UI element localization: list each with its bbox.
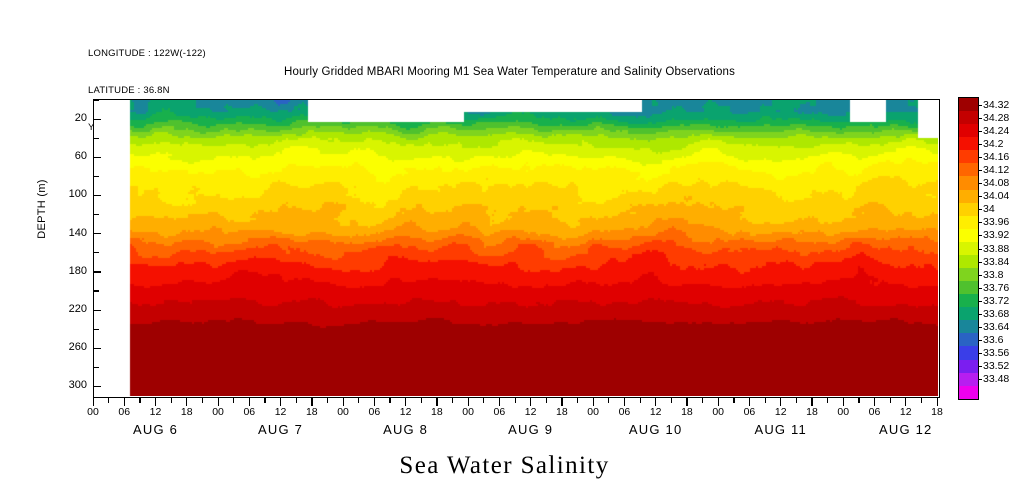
depth-tick: [94, 214, 99, 215]
depth-tick-label: 180: [69, 265, 87, 277]
time-tick: [93, 398, 94, 406]
depth-tick: [94, 100, 99, 101]
colorbar-label: 33.88: [983, 243, 1009, 255]
salinity-colorbar-labels: 34.3234.2834.2434.234.1634.1234.0834.043…: [981, 97, 1009, 400]
time-tick-label: 00: [337, 406, 349, 418]
time-tick-label: 12: [150, 406, 162, 418]
time-tick-label: 00: [212, 406, 224, 418]
time-tick-label: 06: [118, 406, 130, 418]
time-tick: [421, 398, 422, 403]
depth-tick-label: 60: [75, 150, 87, 162]
colorbar-label: 33.8: [983, 269, 1003, 281]
date-label: AUG 12: [879, 422, 932, 437]
time-tick: [468, 398, 469, 406]
colorbar-band: [959, 163, 978, 176]
time-tick: [937, 398, 938, 406]
date-label: AUG 7: [258, 422, 303, 437]
plot-caption: Sea Water Salinity: [0, 452, 1009, 480]
depth-tick-label: 220: [69, 303, 87, 315]
time-tick: [671, 398, 672, 403]
colorbar-band: [959, 268, 978, 281]
chart-title: Hourly Gridded MBARI Mooring M1 Sea Wate…: [0, 66, 1009, 78]
date-label: AUG 8: [383, 422, 428, 437]
time-tick: [546, 398, 547, 403]
date-label: AUG 9: [508, 422, 553, 437]
time-tick: [233, 398, 234, 403]
time-tick-label: 12: [650, 406, 662, 418]
time-tick: [561, 398, 562, 406]
depth-tick: [94, 367, 99, 368]
colorbar-tick: [979, 235, 982, 236]
time-tick-label: 12: [275, 406, 287, 418]
colorbar-label: 34.24: [983, 125, 1009, 137]
colorbar-band: [959, 111, 978, 124]
colorbar-band: [959, 203, 978, 216]
depth-tick: [94, 271, 101, 272]
colorbar-band: [959, 320, 978, 333]
time-tick-label: 00: [587, 406, 599, 418]
time-tick: [343, 398, 344, 406]
depth-tick: [94, 233, 101, 234]
time-tick-label: 18: [431, 406, 443, 418]
colorbar-band: [959, 333, 978, 346]
colorbar-tick: [979, 196, 982, 197]
date-label: AUG 11: [754, 422, 806, 437]
time-tick-label: 12: [775, 406, 787, 418]
time-tick-label: 00: [462, 406, 474, 418]
depth-tick: [94, 176, 99, 177]
time-tick: [640, 398, 641, 403]
time-tick-label: 06: [494, 406, 506, 418]
colorbar-band: [959, 373, 978, 386]
colorbar-label: 34.16: [983, 151, 1009, 163]
colorbar-band: [959, 307, 978, 320]
time-tick-label: 06: [869, 406, 881, 418]
colorbar-band: [959, 255, 978, 268]
time-tick: [530, 398, 531, 406]
colorbar-band: [959, 242, 978, 255]
colorbar-label: 33.92: [983, 229, 1009, 241]
time-tick: [686, 398, 687, 406]
depth-tick: [94, 138, 99, 139]
time-tick: [249, 398, 250, 406]
colorbar-band: [959, 124, 978, 137]
colorbar-tick: [979, 249, 982, 250]
colorbar-tick: [979, 353, 982, 354]
time-tick: [108, 398, 109, 403]
time-tick: [702, 398, 703, 403]
time-tick: [905, 398, 906, 406]
time-tick: [436, 398, 437, 406]
colorbar-band: [959, 137, 978, 150]
colorbar-tick: [979, 222, 982, 223]
colorbar-band: [959, 216, 978, 229]
time-tick: [358, 398, 359, 403]
colorbar-tick: [979, 118, 982, 119]
colorbar-label: 34.2: [983, 138, 1003, 150]
colorbar-label: 34.32: [983, 99, 1009, 111]
colorbar-tick: [979, 144, 982, 145]
time-tick: [264, 398, 265, 403]
colorbar-label: 33.56: [983, 347, 1009, 359]
colorbar-label: 33.76: [983, 282, 1009, 294]
time-tick-label: 12: [525, 406, 537, 418]
colorbar-label: 34.08: [983, 177, 1009, 189]
time-tick: [733, 398, 734, 403]
time-tick-label: 00: [712, 406, 724, 418]
time-tick: [780, 398, 781, 406]
time-tick: [218, 398, 219, 406]
depth-tick: [94, 252, 99, 253]
time-tick: [811, 398, 812, 406]
salinity-field-canvas: [94, 100, 938, 396]
depth-tick: [94, 119, 101, 120]
colorbar-label: 33.96: [983, 216, 1009, 228]
time-tick-label: 18: [181, 406, 193, 418]
colorbar-tick: [979, 379, 982, 380]
time-tick: [155, 398, 156, 406]
time-tick: [890, 398, 891, 403]
time-tick: [296, 398, 297, 403]
depth-tick: [94, 329, 99, 330]
depth-tick: [94, 348, 101, 349]
salinity-heatmap-plot: [93, 99, 940, 398]
depth-tick: [94, 195, 101, 196]
time-tick: [311, 398, 312, 406]
colorbar-tick: [979, 288, 982, 289]
time-tick-label: 00: [837, 406, 849, 418]
time-tick: [655, 398, 656, 406]
depth-tick-label: 300: [69, 379, 87, 391]
time-tick: [624, 398, 625, 406]
time-tick: [858, 398, 859, 403]
time-tick: [374, 398, 375, 406]
time-tick: [405, 398, 406, 406]
colorbar-tick: [979, 105, 982, 106]
colorbar-label: 33.68: [983, 308, 1009, 320]
colorbar-band: [959, 294, 978, 307]
colorbar-band: [959, 346, 978, 359]
colorbar-band: [959, 386, 978, 399]
time-tick: [327, 398, 328, 403]
time-tick-label: 06: [744, 406, 756, 418]
time-tick: [171, 398, 172, 403]
colorbar-tick: [979, 131, 982, 132]
time-tick: [280, 398, 281, 406]
time-tick-label: 00: [87, 406, 99, 418]
time-tick-label: 18: [681, 406, 693, 418]
time-tick-label: 18: [806, 406, 818, 418]
time-tick: [608, 398, 609, 403]
depth-tick-label: 20: [75, 112, 87, 124]
colorbar-tick: [979, 366, 982, 367]
colorbar-label: 34: [983, 203, 995, 215]
colorbar-tick: [979, 327, 982, 328]
colorbar-tick: [979, 170, 982, 171]
colorbar-band: [959, 281, 978, 294]
time-tick: [718, 398, 719, 406]
colorbar-tick: [979, 157, 982, 158]
colorbar-tick: [979, 275, 982, 276]
colorbar-tick: [979, 209, 982, 210]
colorbar-band: [959, 190, 978, 203]
colorbar-tick: [979, 301, 982, 302]
depth-tick-label: 100: [69, 188, 87, 200]
time-tick: [499, 398, 500, 406]
time-tick: [796, 398, 797, 403]
colorbar-label: 33.64: [983, 321, 1009, 333]
colorbar-label: 33.84: [983, 256, 1009, 268]
colorbar-band: [959, 98, 978, 111]
date-label: AUG 6: [133, 422, 178, 437]
time-axis: 0006121800061218000612180006121800061218…: [93, 398, 940, 444]
time-tick: [515, 398, 516, 403]
time-tick: [139, 398, 140, 403]
colorbar-label: 33.52: [983, 360, 1009, 372]
time-tick: [593, 398, 594, 406]
colorbar-tick: [979, 183, 982, 184]
time-tick-label: 12: [400, 406, 412, 418]
longitude-text: LONGITUDE : 122W(-122): [88, 48, 206, 60]
colorbar-band: [959, 150, 978, 163]
time-tick: [186, 398, 187, 406]
time-tick: [765, 398, 766, 403]
time-tick: [749, 398, 750, 406]
time-tick: [577, 398, 578, 403]
time-tick-label: 12: [900, 406, 912, 418]
colorbar-label: 34.28: [983, 112, 1009, 124]
colorbar-label: 33.72: [983, 295, 1009, 307]
depth-tick: [94, 290, 99, 291]
time-tick: [124, 398, 125, 406]
depth-tick-label: 140: [69, 227, 87, 239]
date-label: AUG 10: [629, 422, 682, 437]
time-tick-label: 06: [619, 406, 631, 418]
time-tick-label: 18: [556, 406, 568, 418]
colorbar-band: [959, 360, 978, 373]
time-tick: [483, 398, 484, 403]
time-tick: [921, 398, 922, 403]
colorbar-label: 34.04: [983, 190, 1009, 202]
colorbar-label: 33.6: [983, 334, 1003, 346]
time-tick: [843, 398, 844, 406]
time-tick: [452, 398, 453, 403]
colorbar-band: [959, 229, 978, 242]
depth-tick-label: 260: [69, 341, 87, 353]
colorbar-tick: [979, 314, 982, 315]
colorbar-tick: [979, 340, 982, 341]
time-tick-label: 06: [243, 406, 255, 418]
colorbar-band: [959, 176, 978, 189]
depth-tick: [94, 386, 101, 387]
depth-tick: [94, 310, 101, 311]
time-tick: [874, 398, 875, 406]
time-tick-label: 18: [931, 406, 943, 418]
depth-tick: [94, 157, 101, 158]
colorbar-label: 33.48: [983, 373, 1009, 385]
depth-axis-title: DEPTH (m): [36, 164, 48, 254]
colorbar-tick: [979, 262, 982, 263]
latitude-text: LATITUDE : 36.8N: [88, 85, 206, 97]
time-tick: [827, 398, 828, 403]
time-tick: [389, 398, 390, 403]
colorbar-label: 34.12: [983, 164, 1009, 176]
time-tick-label: 18: [306, 406, 318, 418]
salinity-colorbar: [958, 97, 979, 400]
time-tick-label: 06: [368, 406, 380, 418]
time-tick: [202, 398, 203, 403]
